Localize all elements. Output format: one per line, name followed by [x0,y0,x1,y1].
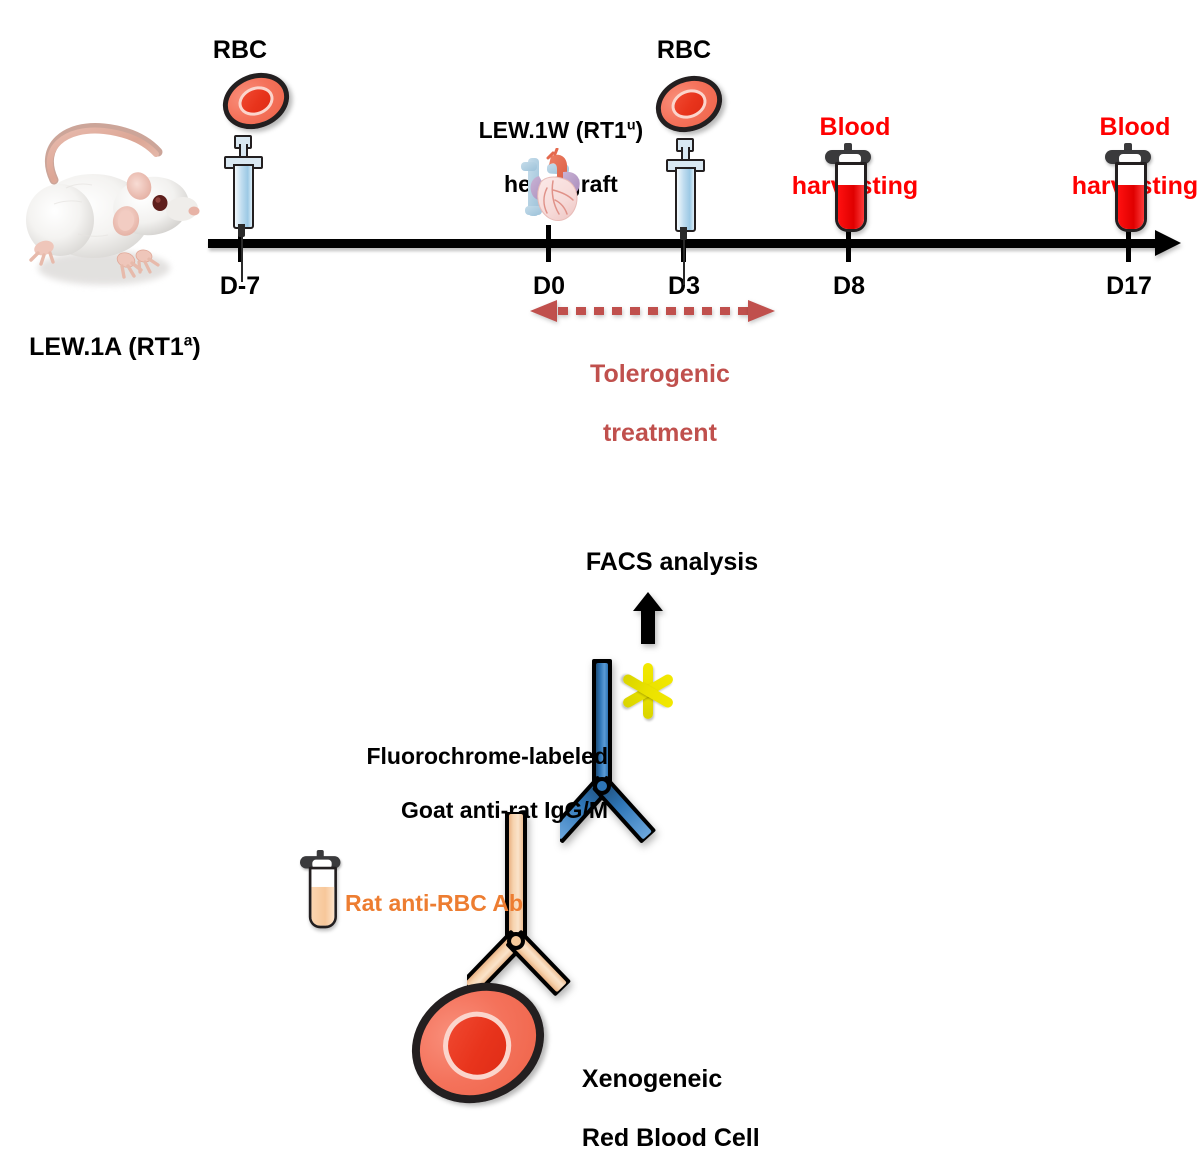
rat-strain-text-main: LEW.1A (RT1 [29,333,184,361]
serum-tube-icon [300,850,340,929]
rbc-center-2 [667,84,711,123]
syringe-needle-2 [683,238,686,285]
xenogeneic-rbc-line1: Xenogeneic [582,1065,722,1093]
graft-strain-main: LEW.1W (RT1 [479,117,627,143]
xenogeneic-rbc-line2: Red Blood Cell [582,1124,760,1152]
blood-harvest-1-line1: Blood [820,113,891,141]
secondary-antibody-line1: Fluorochrome-labeled [366,743,608,769]
timeline-tick-d0 [546,225,551,262]
graft-strain-close: ) [636,117,644,143]
blood-collection-tube-icon-2 [1105,143,1151,233]
dashed-line [558,307,748,315]
timeline-label-d17: D17 [1089,272,1169,302]
timeline-label-d0: D0 [509,272,589,302]
syringe-needle [241,235,244,282]
timeline-label-d8: D8 [809,272,889,302]
tolerogenic-line2: treatment [603,419,717,447]
graft-strain-superscript: u [627,117,636,133]
xenogeneic-rbc-label: Xenogeneic Red Blood Cell [568,1035,828,1153]
blood-harvest-2-line1: Blood [1100,113,1171,141]
event-label-rbc-1: RBC [197,36,283,66]
rat-strain-label: LEW.1A (RT1a) [0,303,216,362]
serum-tube-contents [311,887,334,925]
tolerogenic-treatment-arrow [530,300,775,322]
secondary-antibody-label: Fluorochrome-labeled Goat anti-rat IgG/M [340,716,608,825]
tolerogenic-line1: Tolerogenic [590,360,730,388]
arrow-shaft [641,608,655,644]
serum-tube-body [309,867,337,929]
rat-strain-text-close: ) [192,333,200,361]
red-blood-cell-icon [214,63,297,139]
heart-graft-icon [517,148,589,226]
up-arrow-icon [633,592,663,644]
laboratory-rat-photo [8,108,208,298]
arrow-head-right-icon [748,300,775,322]
arrow-head-left-icon [530,300,557,322]
tube-blood-contents [838,185,864,229]
facs-analysis-label: FACS analysis [562,548,782,578]
primary-antibody-label: Rat anti-RBC Ab [345,890,595,917]
tube-blood-contents-2 [1118,185,1144,229]
tube-body-2 [1115,162,1147,232]
syringe-icon [224,135,259,285]
tolerogenic-treatment-label: Tolerogenic treatment [528,330,778,448]
syringe-barrel [233,164,254,229]
tube-body [835,162,867,232]
syringe-icon-2 [666,138,701,288]
blood-collection-tube-icon [825,143,871,233]
xenogeneic-rbc-center [431,1000,522,1091]
rbc-center [234,81,278,120]
right-arrow-icon [1155,230,1181,256]
syringe-barrel-2 [675,167,696,232]
event-label-rbc-2: RBC [641,36,727,66]
